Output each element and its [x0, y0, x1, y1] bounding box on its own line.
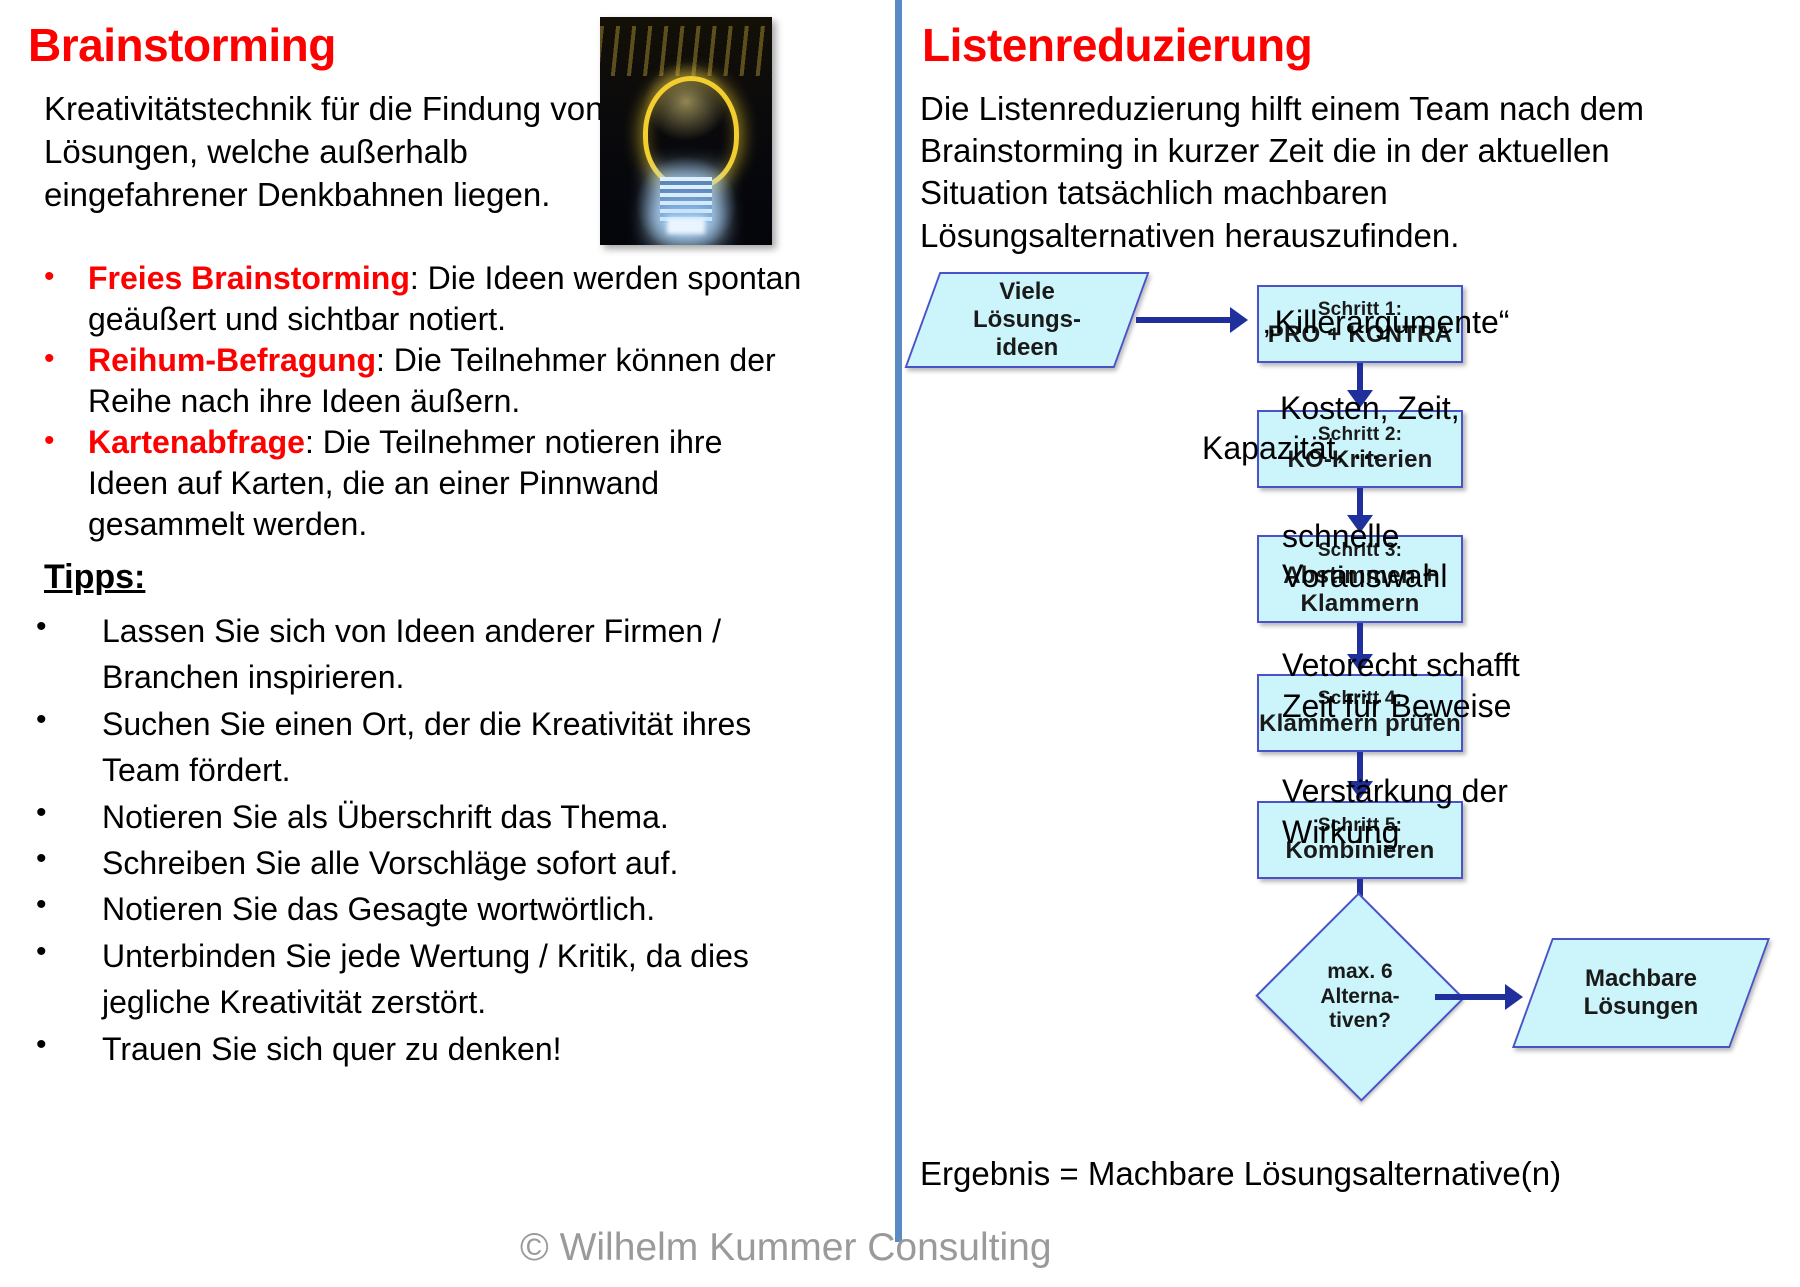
bullet-marker: •	[36, 701, 102, 739]
annotation-kapazitaet: Kapazität, ...	[1202, 428, 1380, 468]
list-item: • Notieren Sie als Überschrift das Thema…	[36, 794, 836, 840]
list-item: • Freies Brainstorming: Die Ideen werden…	[44, 258, 804, 340]
tipp-text: Notieren Sie als Überschrift das Thema.	[102, 794, 836, 840]
end-line-1: Machbare	[1585, 965, 1697, 993]
decision-line-3: tiven?	[1329, 1009, 1391, 1033]
lightbulb-image	[600, 17, 772, 245]
brainstorming-methods-list: • Freies Brainstorming: Die Ideen werden…	[44, 258, 804, 545]
brainstorming-intro-text: Kreativitätstechnik für die Findung von …	[44, 88, 604, 217]
annotation-zeit-beweise: Zeit für Beweise	[1282, 686, 1511, 726]
bullet-marker: •	[36, 794, 102, 832]
annotation-wirkung: Wirkung	[1282, 812, 1399, 852]
annotation-schnelle: schnelle	[1282, 516, 1399, 556]
tipp-text: Schreiben Sie alle Vorschläge sofort auf…	[102, 840, 836, 886]
arrowhead-right-icon	[1230, 307, 1248, 333]
bullet-marker: •	[44, 340, 88, 378]
listenreduzierung-intro-text: Die Listenreduzierung hilft einem Team n…	[920, 88, 1650, 257]
start-line-3: ideen	[996, 334, 1059, 362]
annotation-vorauswahl: Vorauswahl	[1282, 556, 1447, 596]
flow-start-node: Viele Lösungs- ideen	[922, 272, 1132, 368]
lightbulb-neck	[660, 177, 712, 223]
arrow-start-to-step1	[1136, 317, 1232, 323]
list-item: • Notieren Sie das Gesagte wortwörtlich.	[36, 886, 836, 932]
page-title-brainstorming: Brainstorming	[28, 22, 336, 68]
flow-decision-label: max. 6 Alterna- tiven?	[1285, 924, 1435, 1070]
arrowhead-right-icon	[1505, 984, 1523, 1010]
list-item: • Suchen Sie einen Ort, der die Kreativi…	[36, 701, 836, 794]
page-title-listenreduzierung: Listenreduzierung	[922, 22, 1312, 68]
arrow-decision-to-end	[1435, 994, 1507, 1000]
left-panel: Brainstorming Kreativitätstechnik für di…	[0, 0, 890, 1287]
result-statement: Ergebnis = Machbare Lösungsalternative(n…	[920, 1155, 1561, 1193]
copyright-watermark: © Wilhelm Kummer Consulting	[520, 1226, 1052, 1270]
list-item: • Trauen Sie sich quer zu denken!	[36, 1026, 836, 1072]
method-text: Kartenabfrage: Die Teilnehmer notieren i…	[88, 422, 804, 545]
tipps-heading: Tipps:	[44, 558, 145, 597]
list-item: • Schreiben Sie alle Vorschläge sofort a…	[36, 840, 836, 886]
method-text: Freies Brainstorming: Die Ideen werden s…	[88, 258, 804, 340]
flow-start-label: Viele Lösungs- ideen	[922, 272, 1132, 368]
tipp-text: Suchen Sie einen Ort, der die Kreativitä…	[102, 701, 836, 794]
bullet-marker: •	[44, 422, 88, 460]
column-divider	[895, 0, 902, 1242]
flow-end-node: Machbare Lösungen	[1532, 938, 1750, 1048]
annotation-vetorecht: Vetorecht schafft	[1282, 645, 1520, 685]
tipp-text: Trauen Sie sich quer zu denken!	[102, 1026, 836, 1072]
flow-end-label: Machbare Lösungen	[1532, 938, 1750, 1048]
tipps-list: • Lassen Sie sich von Ideen anderer Firm…	[36, 608, 836, 1072]
method-term: Reihum-Befragung	[88, 342, 376, 378]
arrow-step2-to-step3	[1357, 488, 1363, 518]
bullet-marker: •	[44, 258, 88, 296]
method-term: Kartenabfrage	[88, 424, 305, 460]
method-term: Freies Brainstorming	[88, 260, 410, 296]
lightbulb-background-pipes	[600, 26, 772, 76]
annotation-kosten-zeit: Kosten, Zeit,	[1280, 388, 1460, 428]
bullet-marker: •	[36, 608, 102, 646]
start-line-2: Lösungs-	[973, 306, 1081, 334]
lightbulb-base-glow	[667, 218, 705, 234]
flow-decision-node: max. 6 Alterna- tiven?	[1285, 924, 1435, 1070]
annotation-killerargumente: „Killerargumente“	[1264, 302, 1509, 342]
slide-canvas: Brainstorming Kreativitätstechnik für di…	[0, 0, 1800, 1287]
method-text: Reihum-Befragung: Die Teilnehmer können …	[88, 340, 804, 422]
tipp-text: Unterbinden Sie jede Wertung / Kritik, d…	[102, 933, 836, 1026]
bullet-marker: •	[36, 840, 102, 878]
list-item: • Kartenabfrage: Die Teilnehmer notieren…	[44, 422, 804, 545]
list-item: • Unterbinden Sie jede Wertung / Kritik,…	[36, 933, 836, 1026]
right-panel: Listenreduzierung Die Listenreduzierung …	[902, 0, 1800, 1287]
tipp-text: Notieren Sie das Gesagte wortwörtlich.	[102, 886, 836, 932]
lightbulb-glass-icon	[643, 76, 739, 190]
bullet-marker: •	[36, 933, 102, 971]
list-item: • Lassen Sie sich von Ideen anderer Firm…	[36, 608, 836, 701]
end-line-2: Lösungen	[1584, 993, 1699, 1021]
decision-line-2: Alterna-	[1320, 985, 1399, 1009]
tipp-text: Lassen Sie sich von Ideen anderer Firmen…	[102, 608, 836, 701]
decision-line-1: max. 6	[1327, 960, 1392, 984]
start-line-1: Viele	[999, 278, 1055, 306]
annotation-verstaerkung: Verstärkung der	[1282, 771, 1508, 811]
bullet-marker: •	[36, 1026, 102, 1064]
list-item: • Reihum-Befragung: Die Teilnehmer könne…	[44, 340, 804, 422]
bullet-marker: •	[36, 886, 102, 924]
